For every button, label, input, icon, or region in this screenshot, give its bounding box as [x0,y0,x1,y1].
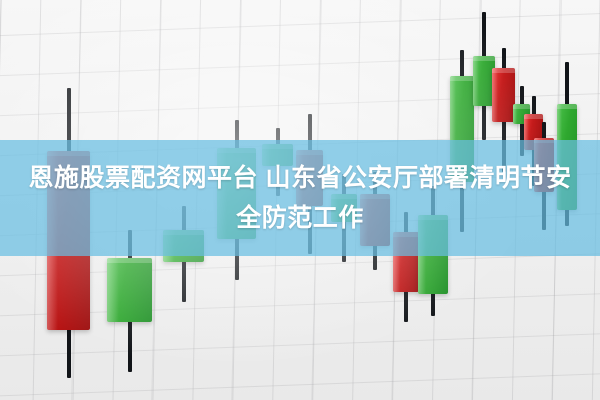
candle-body-cap [47,151,90,156]
candle-body-highlight [524,114,529,150]
candle-body [393,232,419,292]
candle-body-cap [296,150,323,155]
candle-body-cap [492,68,515,73]
candle-body-highlight [107,258,119,322]
candle-body-highlight [393,232,400,292]
candle-body [492,68,515,122]
candle-body-cap [262,144,293,149]
candle-body-cap [534,138,554,143]
headline-text: 恩施股票配资网平台 山东省公安厅部署清明节安 全防范工作 [0,158,600,238]
candle-body-cap [524,114,543,119]
candle-body-cap [107,258,152,263]
candle-body-cap [450,76,474,81]
headline-line-1: 恩施股票配资网平台 山东省公安厅部署清明节安 [16,158,584,198]
candle-body-cap [473,56,495,61]
candle-body-cap [557,104,577,109]
candle-body [107,258,152,322]
candle-body-highlight [473,56,479,106]
candle-body-highlight [492,68,498,122]
candle-body-cap [513,104,530,109]
headline-line-2: 全防范工作 [16,198,584,238]
candle-body-cap [217,148,256,153]
candlestick-banner-image: 恩施股票配资网平台 山东省公安厅部署清明节安 全防范工作 [0,0,600,400]
